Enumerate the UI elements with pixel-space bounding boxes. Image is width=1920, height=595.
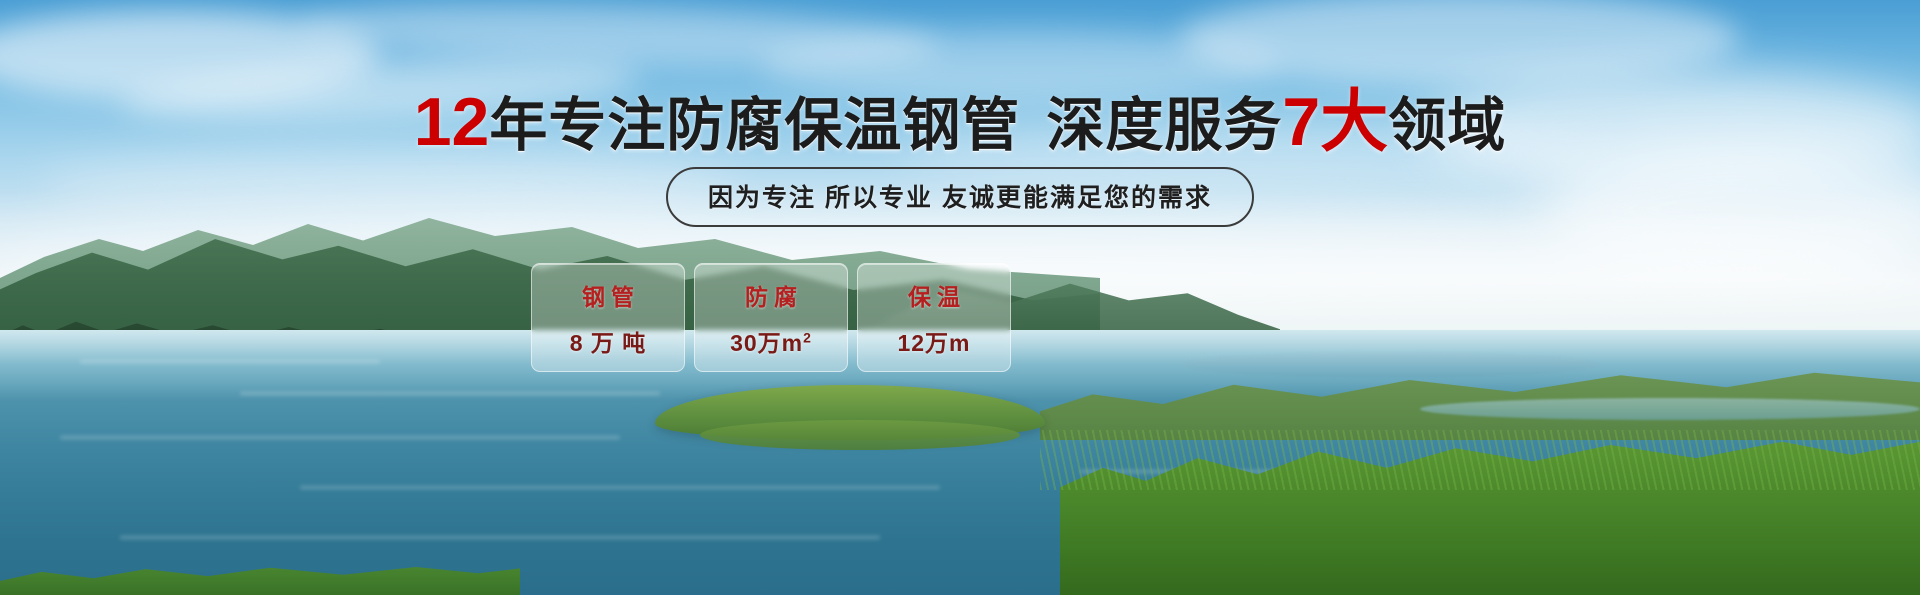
stat-card-label: 防腐: [739, 278, 803, 312]
stat-card-label: 保温: [902, 278, 966, 312]
stat-card[interactable]: 保温 12万m: [857, 263, 1011, 372]
stat-card-value-exponent: 2: [803, 329, 812, 345]
stat-card-row: 钢管 8 万 吨 防腐 30万m2 保温 12万m: [531, 263, 1011, 372]
stat-card-value: 30万m2: [730, 324, 812, 358]
banner-content: 12年专注防腐保温钢管深度服务7大领域 因为专注 所以专业 友诚更能满足您的需求…: [0, 0, 1920, 595]
stat-card[interactable]: 防腐 30万m2: [694, 263, 848, 372]
hero-banner: 12年专注防腐保温钢管深度服务7大领域 因为专注 所以专业 友诚更能满足您的需求…: [0, 0, 1920, 595]
headline-fields-number: 7大: [1282, 84, 1388, 160]
headline-segment-two: 深度服务: [1046, 93, 1282, 158]
headline-segment-three: 领域: [1388, 93, 1506, 158]
stat-card-value: 8 万 吨: [570, 324, 647, 358]
stat-card-value-base: 30万m: [730, 330, 803, 356]
banner-headline: 12年专注防腐保温钢管深度服务7大领域: [0, 88, 1920, 156]
tagline-container: 因为专注 所以专业 友诚更能满足您的需求: [0, 167, 1920, 227]
headline-segment-one: 年专注防腐保温钢管: [489, 93, 1020, 158]
stat-card-value: 12万m: [897, 324, 970, 358]
stat-card[interactable]: 钢管 8 万 吨: [531, 263, 685, 372]
headline-years-number: 12: [414, 84, 490, 160]
tagline-pill: 因为专注 所以专业 友诚更能满足您的需求: [666, 167, 1254, 227]
stat-card-label: 钢管: [576, 278, 640, 312]
